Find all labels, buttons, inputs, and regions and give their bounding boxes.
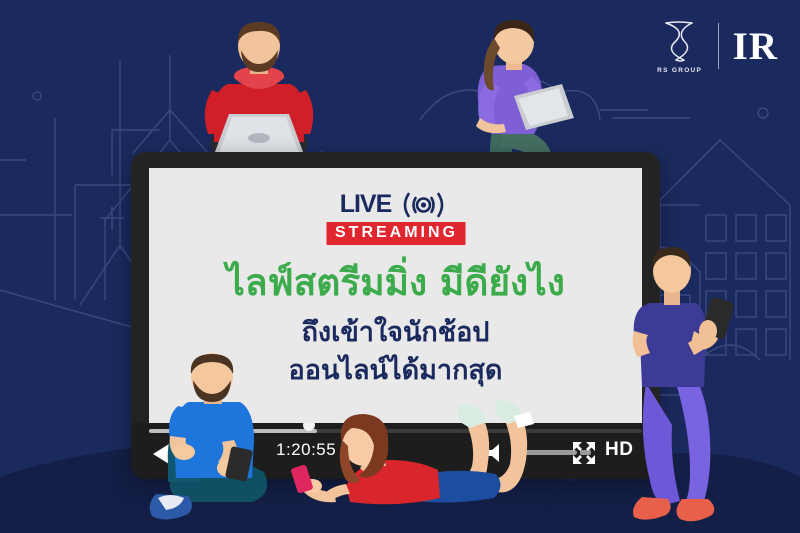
live-streaming-logo: LIVE STREAMING xyxy=(326,190,465,245)
rs-group-monogram-icon xyxy=(656,18,704,64)
broadcast-wifi-icon xyxy=(395,191,451,219)
character-man-blue-shirt-phone xyxy=(148,352,288,533)
rs-group-wordmark: RS GROUP xyxy=(657,67,702,74)
brand-divider xyxy=(718,23,719,69)
brand-logo: RS GROUP IR xyxy=(656,18,778,74)
character-woman-red-top-lying-phone xyxy=(288,400,578,533)
poster-canvas: RS GROUP IR xyxy=(0,0,800,533)
subheadline-line-1: ถึงเข้าใจนักช้อป xyxy=(149,314,642,352)
character-man-purple-standing-phone xyxy=(628,243,756,533)
ir-wordmark: IR xyxy=(733,27,778,66)
rs-group-logo: RS GROUP xyxy=(656,18,704,74)
headline-text: ไลฟ์สตรีมมิ่ง มีดียังไง xyxy=(149,262,642,305)
live-wordmark: LIVE xyxy=(340,190,392,219)
streaming-wordmark: STREAMING xyxy=(326,222,465,245)
